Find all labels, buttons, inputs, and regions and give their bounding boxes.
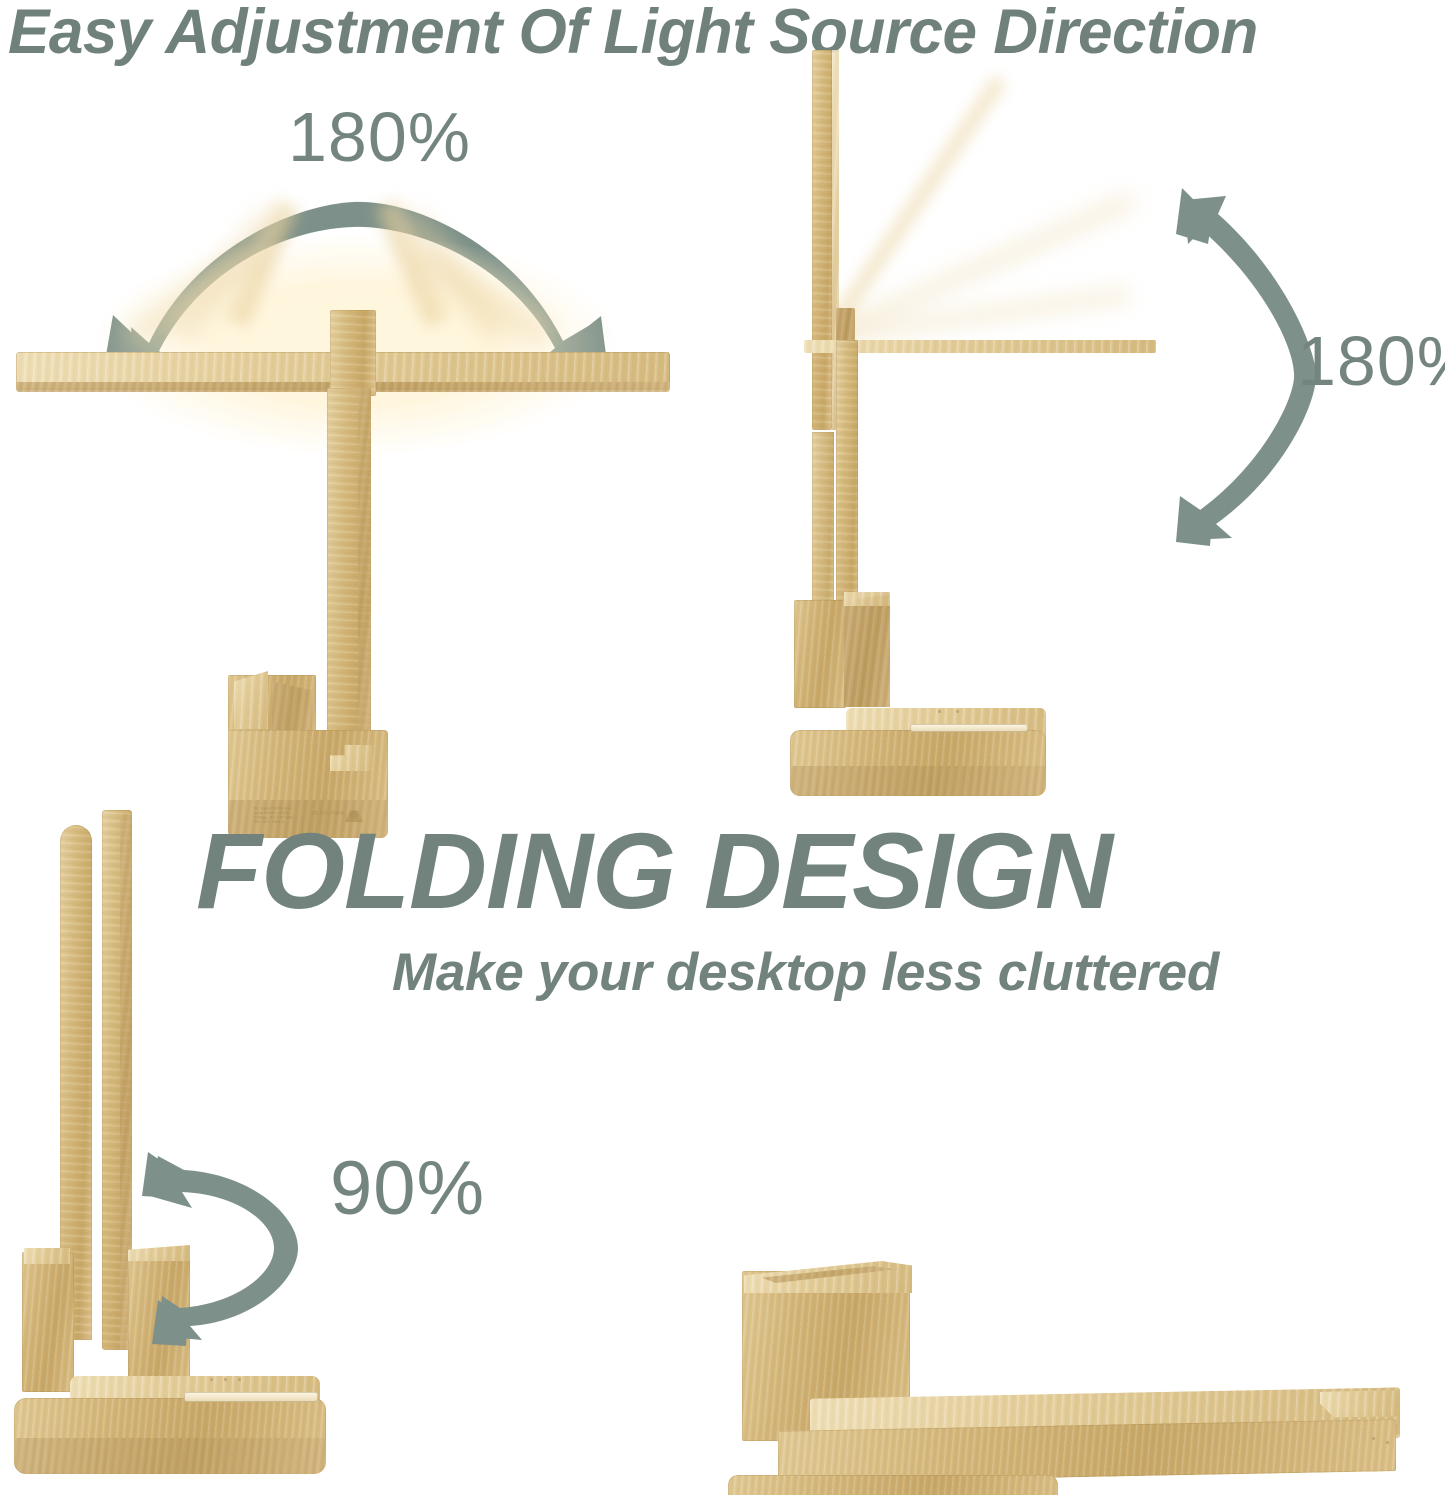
annotation-label-tilt: 180% [1297,326,1445,396]
indicator-led [1386,1441,1389,1444]
indicator-led [938,710,941,713]
touch-control-bar[interactable] [910,724,1028,732]
pen-holder-folded-rimL [24,1248,70,1264]
pen-holder-folded [22,1252,74,1392]
pen-holder-side-rim [844,592,890,606]
panel-front-swivel: W : Rated 5V/2A Max Input Power: 10.0W V… [0,70,700,790]
folded-flat-plate [778,1419,1396,1483]
section-subtitle-folding: Make your desktop less cluttered [392,942,1219,1004]
folded-flat-arm-notch [1320,1390,1398,1417]
indicator-led [1372,1437,1375,1440]
lamp-post-shadow [358,388,371,788]
lamp-pivot-block [330,310,376,396]
pen-holder-side [794,600,846,708]
annotation-label-swivel: 180% [288,102,471,172]
touch-control-bar[interactable] [184,1392,318,1402]
panel-folded-flat [700,1225,1440,1493]
lamp-base-side-front [790,766,1046,796]
indicator-led [210,1378,213,1381]
fold-arc-arrow-icon [140,1130,340,1350]
lamp-base-flat [728,1475,1058,1495]
indicator-led [238,1378,241,1381]
lamp-rear-post [812,50,832,430]
annotation-label-fold: 90% [330,1154,485,1224]
infographic-canvas: Easy Adjustment Of Light Source Directio… [0,0,1445,1495]
lamp-base-folded-front [14,1438,326,1474]
pen-holder-side-inner [844,595,890,707]
indicator-led [224,1378,227,1381]
indicator-led [956,710,959,713]
